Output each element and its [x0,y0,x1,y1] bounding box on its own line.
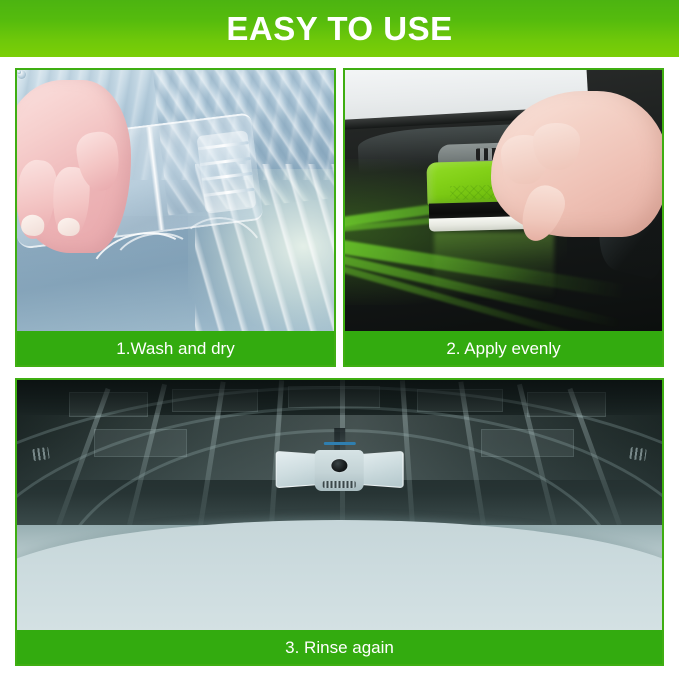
step-1-caption: 1.Wash and dry [116,340,234,357]
step-2-caption: 2. Apply evenly [446,340,560,357]
step-1-photo [17,70,334,331]
windshield-top-tint-band [17,380,662,413]
bottle-thread [198,141,249,150]
step-card-1: 1.Wash and dry [15,68,336,367]
step-3-photo [17,380,662,630]
mirror-stem [334,428,345,452]
mirror-housing [315,450,364,491]
applicator-reflection [434,232,554,300]
camera-sensor-icon [331,459,348,473]
step-2-photo [345,70,662,331]
page-title: EASY TO USE [226,12,452,45]
rear-view-mirror-mount [278,450,401,493]
step-card-2: 2. Apply evenly [343,68,664,367]
bottle-thread [201,172,252,181]
step-3-caption: 3. Rinse again [285,639,394,656]
mirror-stem-blue-marker [324,442,356,446]
bottle-thread [203,187,254,196]
fingernail [20,214,46,237]
mirror-grille [323,481,356,488]
header-banner: EASY TO USE [0,0,679,57]
fingernail [57,217,79,235]
hand-holding-bottle [17,80,131,252]
step-1-caption-bar: 1.Wash and dry [17,331,334,365]
water-surface-illustration [17,70,334,331]
knuckle [533,123,579,170]
car-hood [17,520,662,630]
bottle-neck [196,130,256,214]
step-2-caption-bar: 2. Apply evenly [345,331,662,365]
bottle-highlight [145,127,165,231]
droplet [17,70,21,74]
windshield-corner-marking-left [32,446,50,460]
step-3-caption-bar: 3. Rinse again [17,630,662,664]
bottle-thread [200,156,251,165]
car-windshield-dark-illustration [345,70,662,331]
step-card-3: 3. Rinse again [15,378,664,666]
windshield-corner-marking-right [629,446,647,460]
clean-windshield-illustration [17,380,662,630]
